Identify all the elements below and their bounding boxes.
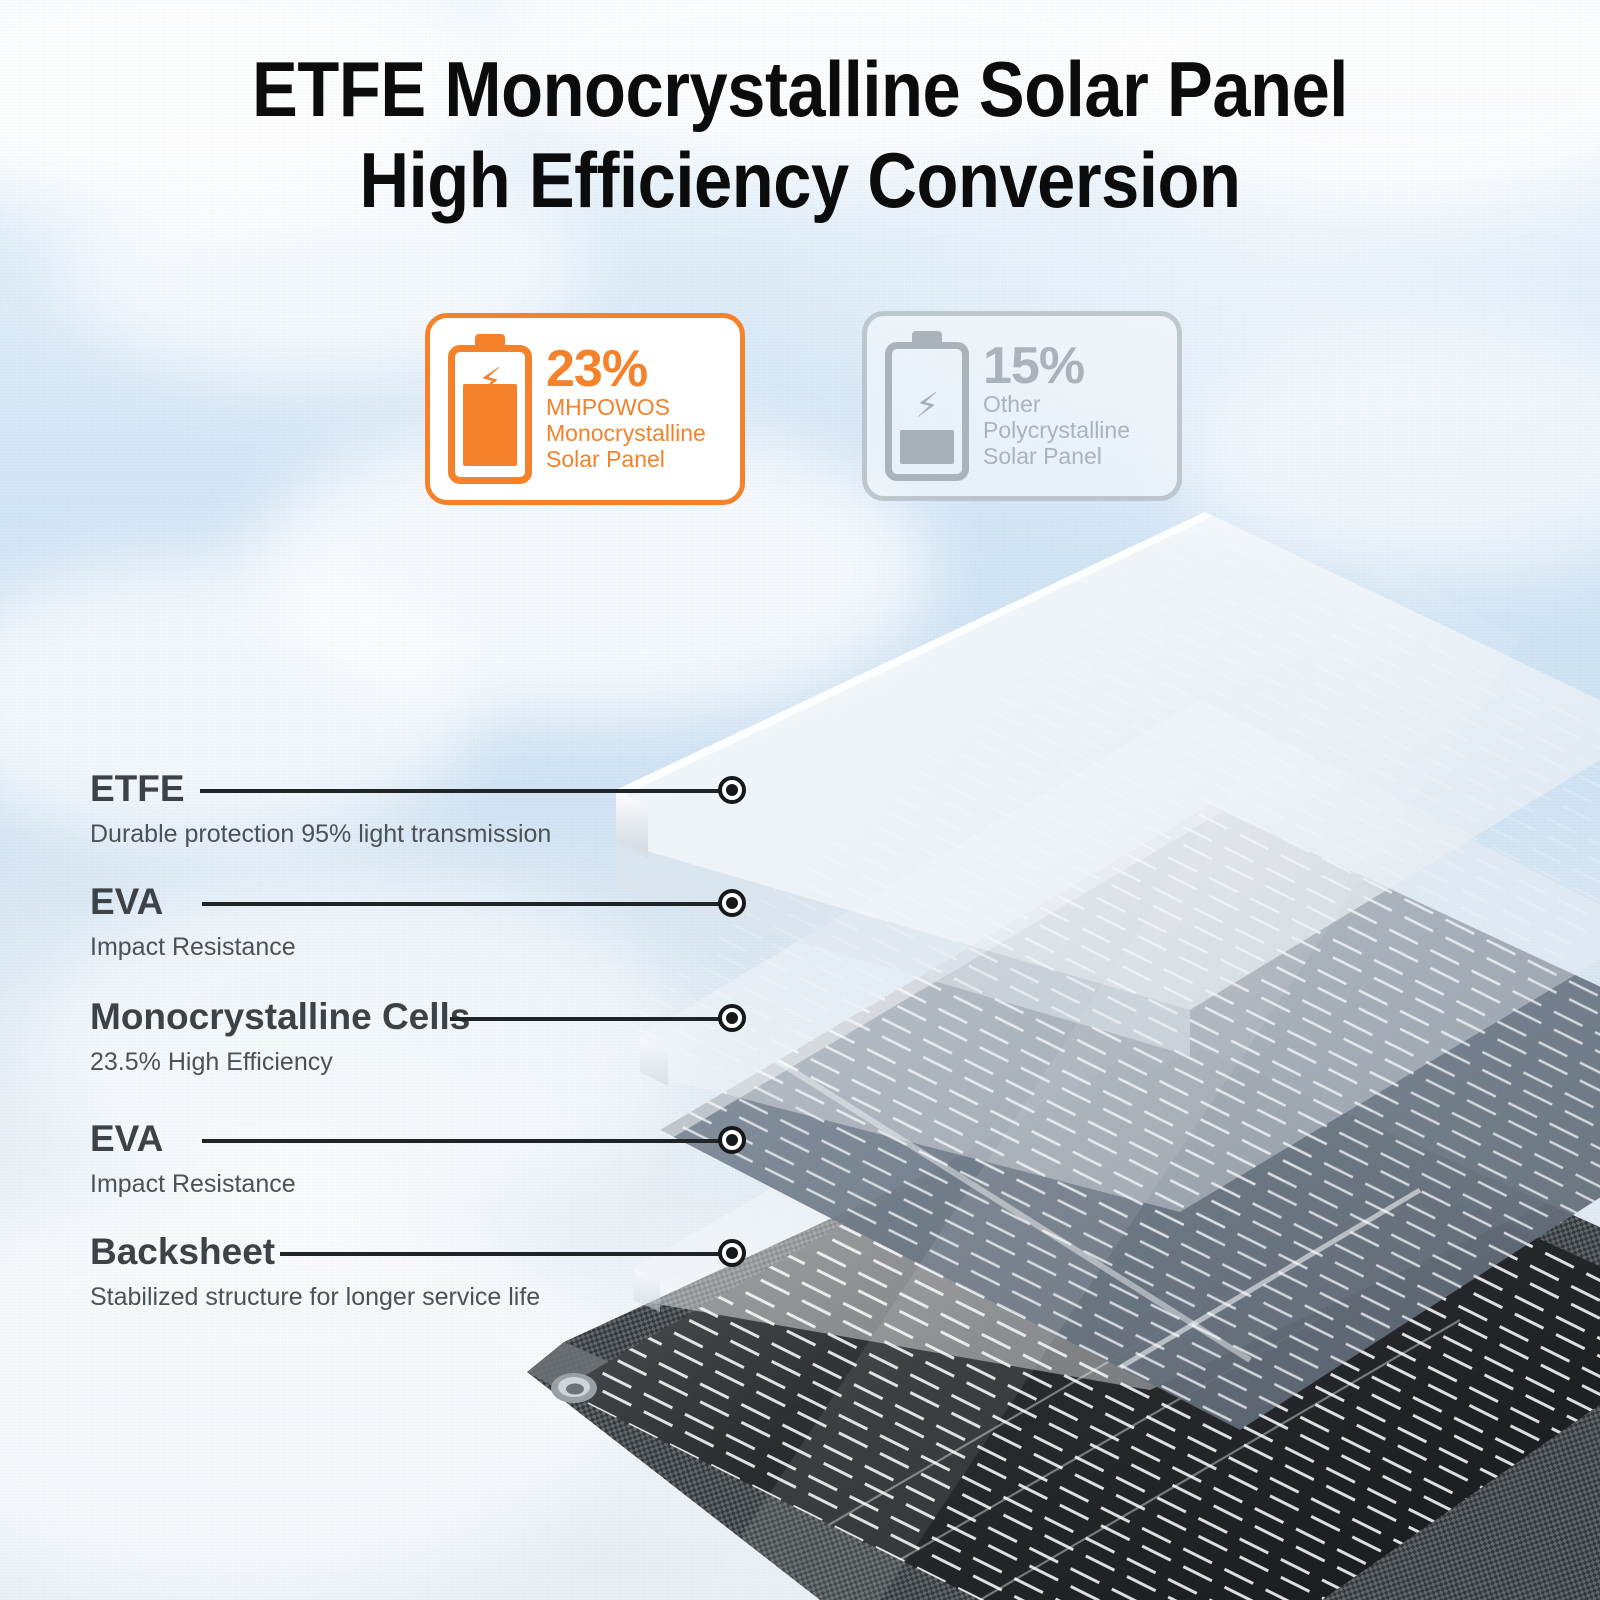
leader-line	[280, 1252, 722, 1256]
callout-description: Impact Resistance	[90, 935, 296, 960]
leader-endpoint-dot	[718, 776, 746, 804]
callout-description: Stabilized structure for longer service …	[90, 1285, 540, 1310]
leader-line	[200, 789, 720, 793]
leader-endpoint-dot	[718, 889, 746, 917]
callout-title: EVA	[90, 883, 163, 920]
callout-description: Durable protection 95% light transmissio…	[90, 822, 551, 847]
leader-endpoint-dot	[718, 1239, 746, 1267]
callout-eva-upper: EVA Impact Resistance	[90, 883, 296, 960]
callout-title: EVA	[90, 1120, 163, 1157]
callout-title: ETFE	[90, 770, 185, 807]
callout-etfe: ETFE Durable protection 95% light transm…	[90, 770, 551, 847]
layer-callout-list: ETFE Durable protection 95% light transm…	[0, 0, 1600, 1600]
leader-line	[202, 902, 720, 906]
leader-line	[450, 1017, 722, 1021]
leader-endpoint-dot	[718, 1126, 746, 1154]
callout-monocrystalline-cells: Monocrystalline Cells 23.5% High Efficie…	[90, 998, 470, 1075]
callout-title: Monocrystalline Cells	[90, 998, 470, 1035]
callout-description: Impact Resistance	[90, 1172, 296, 1197]
callout-description: 23.5% High Efficiency	[90, 1050, 470, 1075]
callout-backsheet: Backsheet Stabilized structure for longe…	[90, 1233, 540, 1310]
leader-line	[202, 1139, 720, 1143]
callout-eva-lower: EVA Impact Resistance	[90, 1120, 296, 1197]
product-infographic: ETFE Monocrystalline Solar Panel High Ef…	[0, 0, 1600, 1600]
leader-endpoint-dot	[718, 1004, 746, 1032]
callout-title: Backsheet	[90, 1233, 275, 1270]
